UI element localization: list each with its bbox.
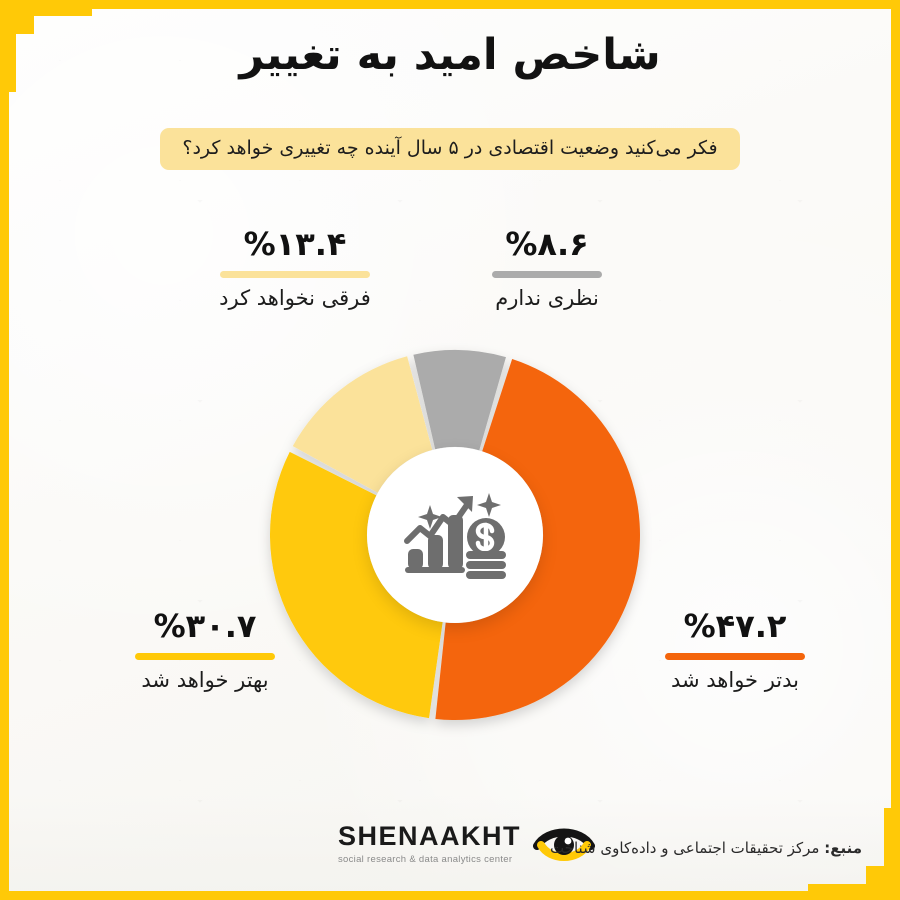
infographic-page: شاخص امید به تغییر فکر می‌کنید وضعیت اقت… xyxy=(0,0,900,900)
callout-no-opinion-rule xyxy=(492,271,602,278)
brand-name: SHENAAKHT xyxy=(338,823,521,850)
frame-border-left xyxy=(0,0,9,900)
donut-center-hub xyxy=(367,447,543,623)
callout-better-label: بهتر خواهد شد xyxy=(110,668,300,692)
frame-corner-bottom-right-horizontal xyxy=(808,884,900,900)
callout-better-rule xyxy=(135,653,275,660)
callout-no-opinion-label: نظری ندارم xyxy=(452,286,642,310)
callout-worse-label: بدتر خواهد شد xyxy=(640,668,830,692)
callout-worse-rule xyxy=(665,653,805,660)
donut-chart xyxy=(270,350,640,720)
callout-no-opinion: %۸.۶ نظری ندارم xyxy=(452,228,642,310)
subtitle-container: فکر می‌کنید وضعیت اقتصادی در ۵ سال آینده… xyxy=(0,128,900,170)
frame-border-right xyxy=(891,0,900,900)
growth-chart-money-icon xyxy=(403,487,507,583)
page-title: شاخص امید به تغییر xyxy=(0,30,900,80)
source-attribution: منبع: مرکز تحقیقات اجتماعی و داده‌کاوی ش… xyxy=(550,839,862,857)
callout-better-percent: %۳۰.۷ xyxy=(110,610,300,644)
callout-no-opinion-percent: %۸.۶ xyxy=(452,228,642,262)
source-value: مرکز تحقیقات اجتماعی و داده‌کاوی شناخت xyxy=(550,839,819,857)
callout-worse: %۴۷.۲ بدتر خواهد شد xyxy=(640,610,830,692)
footer: SHENAAKHT social research & data analyti… xyxy=(0,795,900,891)
frame-border-top xyxy=(0,0,900,9)
brand-tagline: social research & data analytics center xyxy=(338,854,521,865)
brand-logo-text: SHENAAKHT social research & data analyti… xyxy=(338,823,521,865)
frame-border-bottom xyxy=(0,891,900,900)
callout-no-difference-percent: %۱۳.۴ xyxy=(190,228,400,262)
callout-better: %۳۰.۷ بهتر خواهد شد xyxy=(110,610,300,692)
callout-worse-percent: %۴۷.۲ xyxy=(640,610,830,644)
callout-no-difference-label: فرقی نخواهد کرد xyxy=(190,286,400,310)
callout-no-difference-rule xyxy=(220,271,370,278)
frame-corner-top-left-horizontal xyxy=(0,0,92,16)
question-subtitle: فکر می‌کنید وضعیت اقتصادی در ۵ سال آینده… xyxy=(160,128,739,170)
source-label: منبع: xyxy=(824,839,862,857)
callout-no-difference: %۱۳.۴ فرقی نخواهد کرد xyxy=(190,228,400,310)
